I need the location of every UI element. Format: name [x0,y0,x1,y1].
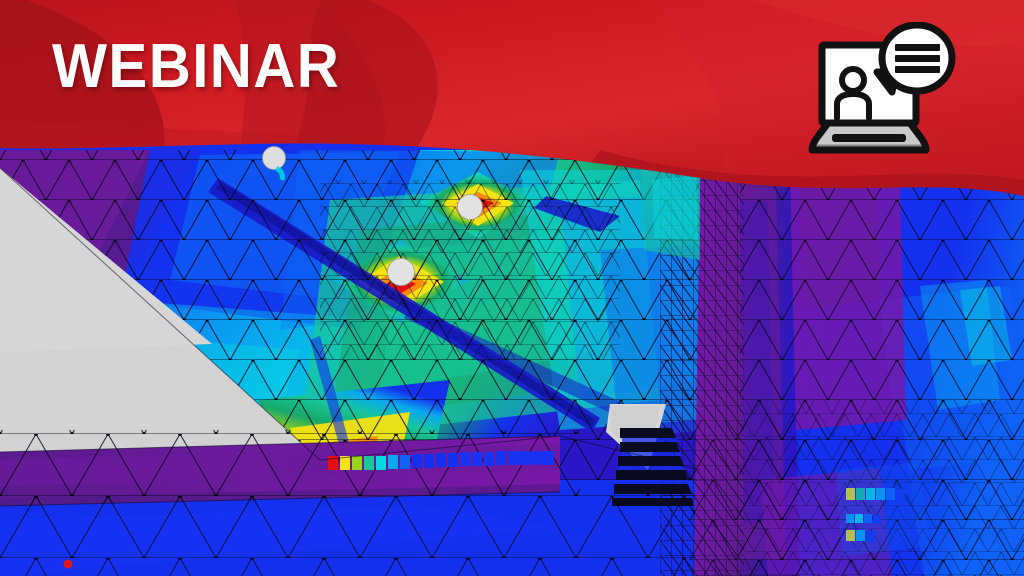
laptop-base [812,123,926,150]
speech-line-1 [895,44,940,51]
node-probe-marker [64,560,73,569]
speech-line-2 [895,55,940,62]
page-title: WEBINAR [52,36,340,98]
bolt-cap-top [263,147,286,170]
bolt-cap-middle [458,195,483,220]
webinar-laptop-icon [806,22,958,164]
bottom-floor-region [0,492,700,576]
speech-line-3 [895,66,940,73]
webinar-banner-image: WEBINAR [0,0,1024,576]
right-structure-region [606,150,1024,576]
bolt-cap-lower [388,259,415,286]
speech-bubble [877,25,952,92]
